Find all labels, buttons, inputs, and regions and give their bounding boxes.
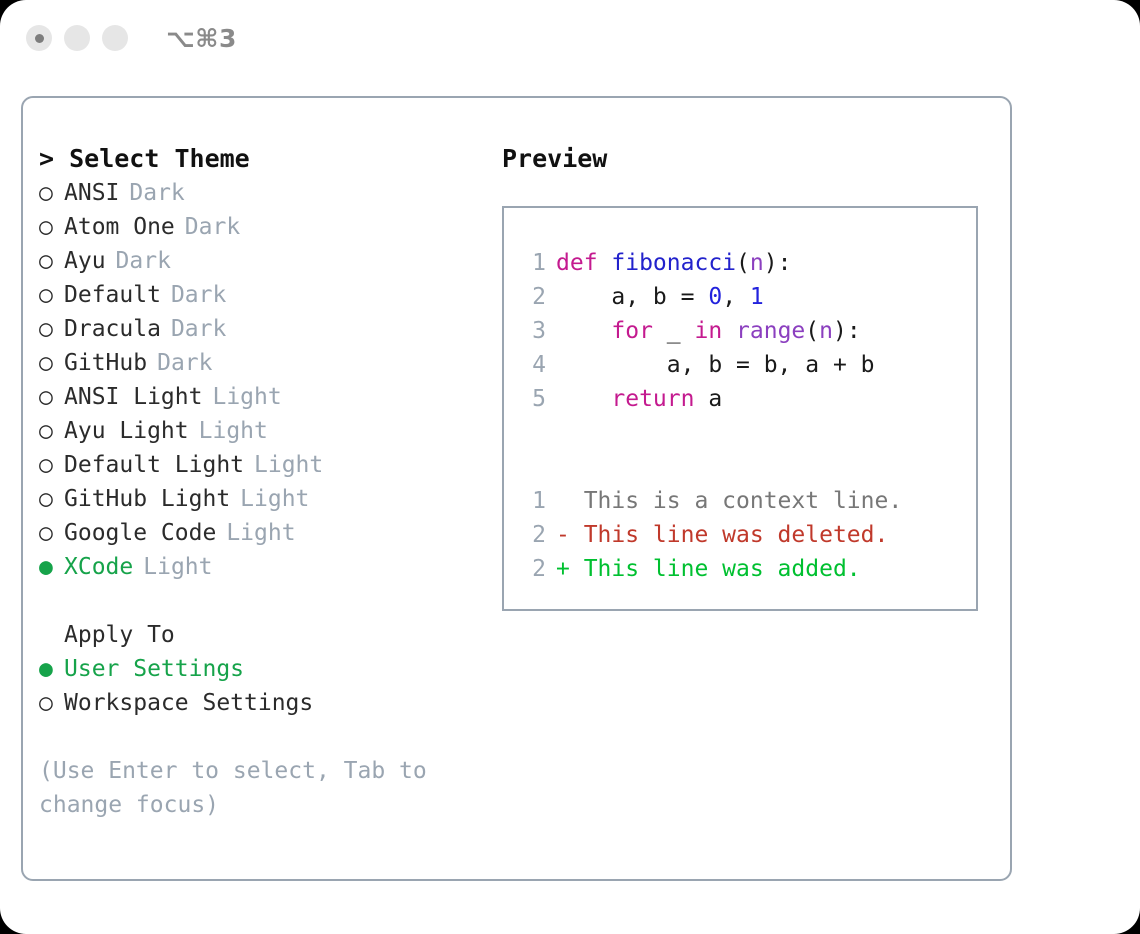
code-token [556,318,611,344]
theme-option-github[interactable]: ○GitHubDark [39,346,469,380]
code-token: 0 [708,284,722,310]
code-token: 1 [750,284,764,310]
diff-line: 1 This is a context line. [504,484,976,518]
line-number: 4 [504,348,556,382]
theme-option-label: Default Light [64,448,244,482]
diff-preview-block: 1 This is a context line.2- This line wa… [504,484,976,586]
line-number: 2 [504,552,556,586]
code-line-content: a, b = b, a + b [556,348,875,382]
radio-unselected-icon: ○ [39,448,64,482]
theme-option-default[interactable]: ○DefaultDark [39,278,469,312]
radio-selected-icon: ● [39,652,64,686]
line-number: 2 [504,280,556,314]
preview-gap [504,416,976,450]
code-token: + This line was added. [556,556,861,582]
theme-option-label: Google Code [64,516,216,550]
code-token: in [694,318,722,344]
theme-option-label: Default [64,278,161,312]
code-token: ( [805,318,819,344]
code-line: 4 a, b = b, a + b [504,348,976,382]
code-token: a, b = b, a + b [556,352,875,378]
code-token: a [694,386,722,412]
window-dot-active-inner-icon [35,34,44,43]
apply-to-option-label: User Settings [64,652,244,686]
code-token: - This line was deleted. [556,522,888,548]
theme-option-label: Dracula [64,312,161,346]
window-dot-third-icon[interactable] [102,25,128,51]
code-token: return [611,386,694,412]
code-token: ): [833,318,861,344]
code-line-content: a, b = 0, 1 [556,280,764,314]
apply-to-option-list: ●User Settings○Workspace Settings [39,652,469,720]
code-token: def [556,250,611,276]
code-line-content: + This line was added. [556,552,861,586]
theme-option-dracula[interactable]: ○DraculaDark [39,312,469,346]
preview-column: Preview 1def fibonacci(n):2 a, b = 0, 13… [502,142,982,611]
radio-selected-icon: ● [39,550,64,584]
theme-option-label: ANSI [64,176,119,210]
line-number: 2 [504,518,556,552]
apply-to-option-user-settings[interactable]: ●User Settings [39,652,469,686]
line-number: 1 [504,246,556,280]
theme-option-atom-one[interactable]: ○Atom OneDark [39,210,469,244]
theme-option-category: Dark [171,278,226,312]
preview-heading: Preview [502,142,982,176]
theme-option-label: ANSI Light [64,380,202,414]
preview-box: 1def fibonacci(n):2 a, b = 0, 13 for _ i… [502,206,978,611]
theme-option-category: Dark [185,210,240,244]
theme-option-category: Light [240,482,309,516]
code-token [556,386,611,412]
theme-option-ayu[interactable]: ○AyuDark [39,244,469,278]
theme-option-label: GitHub [64,346,147,380]
theme-option-github-light[interactable]: ○GitHub LightLight [39,482,469,516]
app-window: ⌥⌘3 > Select Theme ○ANSIDark○Atom OneDar… [0,0,1140,934]
theme-option-label: Ayu Light [64,414,189,448]
theme-option-ansi-light[interactable]: ○ANSI LightLight [39,380,469,414]
radio-unselected-icon: ○ [39,346,64,380]
theme-option-category: Light [226,516,295,550]
radio-unselected-icon: ○ [39,278,64,312]
code-line-content: for _ in range(n): [556,314,861,348]
code-token: ( [736,250,750,276]
code-token: a, b = [556,284,708,310]
diff-line: 2+ This line was added. [504,552,976,586]
radio-unselected-icon: ○ [39,686,64,720]
window-dot-second-icon[interactable] [64,25,90,51]
theme-selection-column: > Select Theme ○ANSIDark○Atom OneDark○Ay… [39,142,469,822]
theme-option-label: GitHub Light [64,482,230,516]
theme-option-category: Dark [171,312,226,346]
theme-option-category: Dark [116,244,171,278]
radio-unselected-icon: ○ [39,482,64,516]
code-line: 3 for _ in range(n): [504,314,976,348]
section-spacer [39,584,469,618]
radio-unselected-icon: ○ [39,380,64,414]
radio-unselected-icon: ○ [39,312,64,346]
apply-to-option-workspace-settings[interactable]: ○Workspace Settings [39,686,469,720]
theme-option-category: Light [199,414,268,448]
code-token: n [819,318,833,344]
help-text: (Use Enter to select, Tab to change focu… [39,754,439,822]
theme-option-category: Dark [157,346,212,380]
preview-gap-2 [504,450,976,484]
theme-option-ayu-light[interactable]: ○Ayu LightLight [39,414,469,448]
code-preview-block: 1def fibonacci(n):2 a, b = 0, 13 for _ i… [504,246,976,416]
diff-line: 2- This line was deleted. [504,518,976,552]
code-token [722,318,736,344]
code-line-content: def fibonacci(n): [556,246,791,280]
code-token: This is a context line. [556,488,902,514]
theme-option-ansi[interactable]: ○ANSIDark [39,176,469,210]
code-line: 1def fibonacci(n): [504,246,976,280]
window-controls [26,25,128,51]
code-line: 5 return a [504,382,976,416]
window-dot-active-icon[interactable] [26,25,52,51]
line-number: 3 [504,314,556,348]
select-theme-heading: > Select Theme [39,142,469,176]
title-bar: ⌥⌘3 [0,0,1140,76]
theme-option-category: Light [254,448,323,482]
apply-to-option-label: Workspace Settings [64,686,313,720]
line-number: 5 [504,382,556,416]
theme-option-google-code[interactable]: ○Google CodeLight [39,516,469,550]
theme-option-category: Dark [129,176,184,210]
radio-unselected-icon: ○ [39,414,64,448]
radio-unselected-icon: ○ [39,244,64,278]
theme-option-default-light[interactable]: ○Default LightLight [39,448,469,482]
code-line-content: This is a context line. [556,484,902,518]
code-token: n [750,250,764,276]
line-number: 1 [504,484,556,518]
theme-option-label: XCode [64,550,133,584]
theme-option-xcode[interactable]: ●XCodeLight [39,550,469,584]
theme-option-label: Atom One [64,210,175,244]
theme-option-label: Ayu [64,244,106,278]
code-token: ): [764,250,792,276]
radio-unselected-icon: ○ [39,210,64,244]
keyboard-shortcut-label: ⌥⌘3 [166,24,237,53]
code-token: _ [653,318,695,344]
code-token: , [722,284,750,310]
code-line-content: return a [556,382,722,416]
theme-picker-panel: > Select Theme ○ANSIDark○Atom OneDark○Ay… [21,96,1012,881]
code-token: fibonacci [611,250,736,276]
apply-to-heading: Apply To [39,618,469,652]
code-line: 2 a, b = 0, 1 [504,280,976,314]
theme-option-list: ○ANSIDark○Atom OneDark○AyuDark○DefaultDa… [39,176,469,584]
radio-unselected-icon: ○ [39,176,64,210]
theme-option-category: Light [212,380,281,414]
code-token: for [611,318,653,344]
radio-unselected-icon: ○ [39,516,64,550]
code-line-content: - This line was deleted. [556,518,888,552]
theme-option-category: Light [143,550,212,584]
code-token: range [736,318,805,344]
